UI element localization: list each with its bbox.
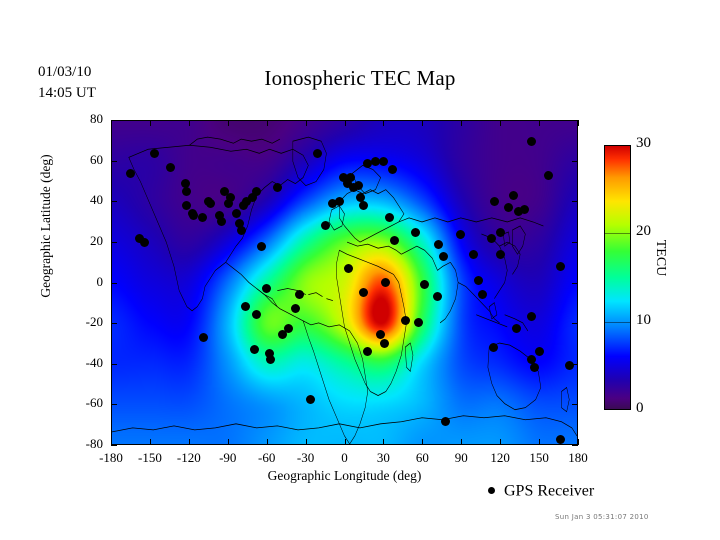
- gps-receiver-dot: [182, 187, 191, 196]
- y-tick-mark: [572, 161, 578, 162]
- gps-receiver-dot: [379, 157, 388, 166]
- x-tick-mark: [150, 439, 151, 445]
- gps-receiver-dot: [306, 395, 315, 404]
- legend: GPS Receiver: [488, 480, 688, 502]
- gps-receiver-dot: [199, 333, 208, 342]
- tec-map-plot-area: [111, 120, 578, 445]
- gps-receiver-dots: [112, 121, 577, 444]
- gps-receiver-dot: [266, 355, 275, 364]
- x-tick-mark: [422, 120, 423, 126]
- gps-receiver-dot: [284, 324, 293, 333]
- gps-receiver-dot: [420, 280, 429, 289]
- x-tick-mark: [306, 439, 307, 445]
- colorbar-title: TECU: [652, 198, 668, 318]
- x-tick-mark: [228, 120, 229, 126]
- x-tick-label: 180: [548, 450, 608, 466]
- y-tick-label: -20: [63, 314, 103, 330]
- gps-receiver-dot: [530, 363, 539, 372]
- x-tick-mark: [267, 439, 268, 445]
- gps-receiver-dot: [321, 221, 330, 230]
- x-tick-mark: [189, 439, 190, 445]
- y-tick-mark: [111, 201, 117, 202]
- gps-receiver-dot: [237, 226, 246, 235]
- gps-receiver-dot: [241, 302, 250, 311]
- colorbar-tick-mark: [604, 233, 631, 234]
- x-tick-mark: [189, 120, 190, 126]
- gps-receiver-dot: [232, 209, 241, 218]
- x-tick-mark: [383, 120, 384, 126]
- gps-receiver-dot: [411, 228, 420, 237]
- tec-map-figure: 01/03/10 14:05 UT Ionospheric TEC Map: [0, 0, 720, 540]
- x-tick-mark: [306, 120, 307, 126]
- gps-receiver-dot: [273, 183, 282, 192]
- gps-receiver-dot: [556, 262, 565, 271]
- x-tick-mark: [422, 439, 423, 445]
- y-tick-mark: [111, 283, 117, 284]
- x-tick-mark: [150, 120, 151, 126]
- gps-receiver-dot: [565, 361, 574, 370]
- gps-receiver-dot: [226, 193, 235, 202]
- y-tick-mark: [572, 364, 578, 365]
- gps-receiver-dot: [439, 252, 448, 261]
- y-tick-label: 40: [63, 192, 103, 208]
- y-tick-label: 80: [63, 111, 103, 127]
- y-tick-label: 20: [63, 233, 103, 249]
- x-tick-mark: [267, 120, 268, 126]
- colorbar-tick-label: 0: [636, 400, 670, 417]
- x-tick-mark: [111, 120, 112, 126]
- gps-receiver-dot: [354, 181, 363, 190]
- x-tick-mark: [461, 120, 462, 126]
- gps-receiver-dot: [433, 292, 442, 301]
- y-tick-mark: [111, 364, 117, 365]
- gps-receiver-dot: [359, 201, 368, 210]
- y-tick-mark: [111, 161, 117, 162]
- gps-receiver-dot: [490, 197, 499, 206]
- y-tick-mark: [111, 404, 117, 405]
- gps-receiver-dot: [556, 435, 565, 444]
- y-tick-mark: [572, 242, 578, 243]
- x-tick-mark: [461, 439, 462, 445]
- y-tick-label: 60: [63, 152, 103, 168]
- gps-receiver-dot: [252, 187, 261, 196]
- y-tick-label: 0: [63, 274, 103, 290]
- gps-receiver-dot: [150, 149, 159, 158]
- gps-receiver-dot: [206, 199, 215, 208]
- gps-receiver-dot: [489, 343, 498, 352]
- gps-receiver-dot: [469, 250, 478, 259]
- page-title: Ionospheric TEC Map: [150, 66, 570, 91]
- y-tick-mark: [111, 323, 117, 324]
- gps-receiver-dot: [363, 347, 372, 356]
- gps-receiver-dot: [252, 310, 261, 319]
- gps-receiver-dot: [434, 240, 443, 249]
- gps-receiver-dot: [217, 217, 226, 226]
- gps-receiver-dot: [198, 213, 207, 222]
- gps-receiver-dot: [504, 203, 513, 212]
- gps-receiver-dot: [257, 242, 266, 251]
- generation-timestamp: Sun Jan 3 05:31:07 2010: [555, 513, 715, 521]
- y-tick-mark: [111, 242, 117, 243]
- gps-receiver-dot: [140, 238, 149, 247]
- gps-receiver-marker-icon: [488, 487, 495, 494]
- gps-receiver-dot: [527, 312, 536, 321]
- gps-receiver-dot: [381, 278, 390, 287]
- x-tick-mark: [500, 439, 501, 445]
- gps-receiver-dot: [126, 169, 135, 178]
- gps-receiver-dot: [478, 290, 487, 299]
- legend-label: GPS Receiver: [504, 482, 594, 499]
- gps-receiver-dot: [441, 417, 450, 426]
- gps-receiver-dot: [414, 318, 423, 327]
- gps-receiver-dot: [535, 347, 544, 356]
- x-tick-mark: [111, 439, 112, 445]
- colorbar-tick-label: 30: [636, 135, 670, 152]
- gps-receiver-dot: [401, 316, 410, 325]
- gps-receiver-dot: [385, 213, 394, 222]
- x-tick-mark: [578, 120, 579, 126]
- gps-receiver-dot: [527, 137, 536, 146]
- gps-receiver-dot: [487, 234, 496, 243]
- y-tick-label: -60: [63, 395, 103, 411]
- y-tick-mark: [572, 201, 578, 202]
- gps-receiver-dot: [456, 230, 465, 239]
- y-tick-label: -40: [63, 355, 103, 371]
- y-tick-mark: [572, 445, 578, 446]
- gps-receiver-dot: [262, 284, 271, 293]
- y-tick-mark: [572, 323, 578, 324]
- gps-receiver-dot: [509, 191, 518, 200]
- gps-receiver-dot: [388, 165, 397, 174]
- gps-receiver-dot: [512, 324, 521, 333]
- gps-receiver-dot: [344, 264, 353, 273]
- colorbar-tick-mark: [604, 322, 631, 323]
- y-tick-mark: [111, 445, 117, 446]
- gps-receiver-dot: [514, 207, 523, 216]
- gps-receiver-dot: [359, 288, 368, 297]
- gps-receiver-dot: [295, 290, 304, 299]
- gps-receiver-dot: [474, 276, 483, 285]
- x-tick-mark: [539, 120, 540, 126]
- x-tick-mark: [228, 439, 229, 445]
- y-axis-label: Geographic Latitude (deg): [38, 111, 54, 341]
- gps-receiver-dot: [496, 228, 505, 237]
- gps-receiver-dot: [335, 197, 344, 206]
- x-tick-mark: [345, 120, 346, 126]
- gps-receiver-dot: [346, 173, 355, 182]
- x-tick-mark: [539, 439, 540, 445]
- y-tick-mark: [572, 404, 578, 405]
- x-tick-mark: [500, 120, 501, 126]
- x-tick-mark: [383, 439, 384, 445]
- gps-receiver-dot: [291, 304, 300, 313]
- x-tick-mark: [578, 439, 579, 445]
- gps-receiver-dot: [166, 163, 175, 172]
- gps-receiver-dot: [380, 339, 389, 348]
- gps-receiver-dot: [313, 149, 322, 158]
- y-tick-mark: [572, 283, 578, 284]
- gps-receiver-dot: [189, 211, 198, 220]
- colorbar: [604, 145, 631, 410]
- gps-receiver-dot: [496, 250, 505, 259]
- gps-receiver-dot: [390, 236, 399, 245]
- x-tick-mark: [345, 439, 346, 445]
- gps-receiver-dot: [544, 171, 553, 180]
- gps-receiver-dot: [250, 345, 259, 354]
